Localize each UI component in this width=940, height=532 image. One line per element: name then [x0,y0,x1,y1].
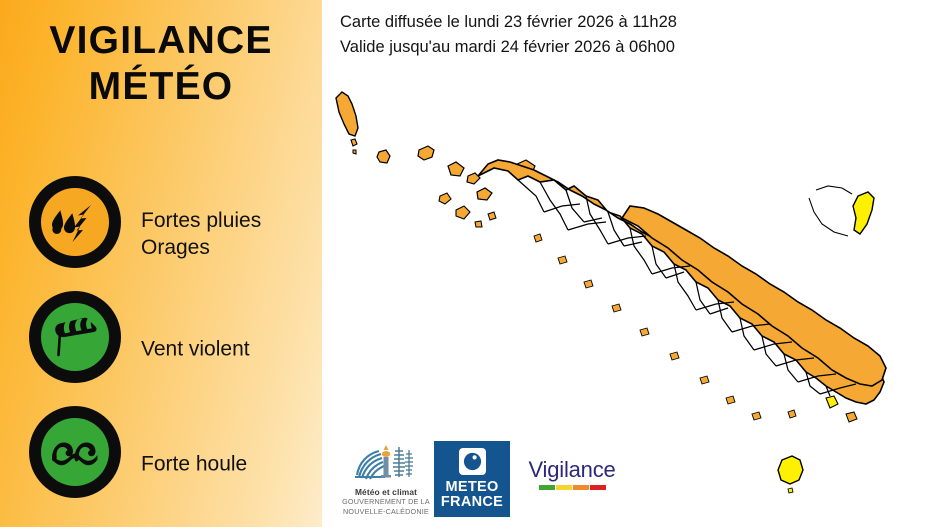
meteo-france-line2: FRANCE [441,495,503,511]
vigilance-logo[interactable]: Vigilance [520,457,624,490]
vigilance-color-bars [520,485,624,490]
vigilance-color-bar-segment [590,485,606,490]
nc-logo-name: Météo et climat [338,487,434,497]
rain-thunderstorm-icon [47,194,103,250]
legend-label-swell: Forte houle [141,450,247,477]
nc-government-logo: Météo et climat GOUVERNEMENT DE LA NOUVE… [338,441,434,516]
rain-thunderstorm-badge [29,176,121,268]
meteo-france-mark-icon [459,448,486,475]
legend-row-swell: Forte houle [0,406,322,521]
logo-bar: Météo et climat GOUVERNEMENT DE LA NOUVE… [330,439,630,523]
page-title: VIGILANCE MÉTÉO [0,18,322,110]
page-title-line1: VIGILANCE [49,19,272,62]
map-islets-southeast [788,396,857,422]
vigilance-map-page: VIGILANCE MÉTÉO [0,0,940,527]
map-region-ouvea [853,192,874,234]
map-panel: Carte diffusée le lundi 23 février 2026 … [322,0,940,527]
nc-emblem-icon [349,441,423,481]
legend-label-wind: Vent violent [141,335,250,362]
vigilance-color-bar-segment [539,485,555,490]
vigilance-logo-label: Vigilance [520,457,624,483]
meteo-france-line1: METEO [441,480,503,496]
hazard-legend: Fortes pluies Orages [0,176,322,521]
vigilance-color-bar-segment [573,485,589,490]
meteo-france-logo[interactable]: METEO FRANCE [434,441,510,517]
legend-label-rain: Fortes pluies Orages [141,207,261,261]
page-title-line2: MÉTÉO [0,64,322,110]
map-region-ile-des-pins[interactable] [778,456,803,493]
windsock-badge [29,291,121,383]
vigilance-color-bar-segment [556,485,572,490]
map-region-grande-terre[interactable] [478,160,886,420]
nc-logo-sub-line2: NOUVELLE-CALÉDONIE [338,507,434,517]
legend-row-rain: Fortes pluies Orages [0,176,322,291]
nc-logo-sub-line1: GOUVERNEMENT DE LA [338,497,434,507]
wave-icon [47,424,103,480]
hazard-level-disc-orange [41,188,109,256]
hazard-level-disc-green [41,418,109,486]
legend-sidebar: VIGILANCE MÉTÉO [0,0,322,527]
map-region-belep[interactable] [336,92,434,163]
windsock-icon [47,309,103,365]
wave-badge [29,406,121,498]
hazard-level-disc-green [41,303,109,371]
legend-row-wind: Vent violent [0,291,322,406]
